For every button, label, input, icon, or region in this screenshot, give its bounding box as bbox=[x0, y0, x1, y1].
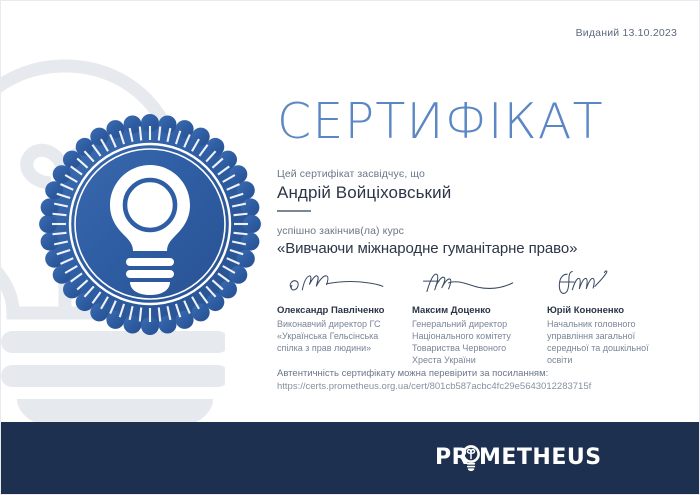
signatory-name: Максим Доценко bbox=[412, 305, 537, 317]
svg-text:METHEUS: METHEUS bbox=[479, 445, 602, 470]
signature-mark-icon bbox=[277, 269, 397, 295]
issue-date: Виданий 13.10.2023 bbox=[576, 27, 677, 39]
signatory-role: Генеральний директор Національного коміт… bbox=[412, 319, 537, 367]
seal-badge-icon bbox=[39, 113, 261, 335]
verification-label: Автентичність сертифікату можна перевіри… bbox=[277, 368, 677, 379]
course-name: «Вивчаючи міжнародне гуманітарне право» bbox=[277, 240, 677, 257]
prometheus-wordmark-icon: PR METHEUS bbox=[435, 443, 613, 473]
certificate-main: СЕРТИФІКАТ Цей сертифікат засвідчує, що … bbox=[277, 97, 677, 257]
signatory-role: Виконавчий директор ГС «Українська Гельс… bbox=[277, 319, 402, 355]
prometheus-logo: PR METHEUS bbox=[435, 443, 613, 473]
course-label: успішно закінчив(ла) курс bbox=[277, 225, 677, 237]
signature-mark-icon bbox=[547, 269, 667, 295]
signature-block-3: Юрій Кононенко Начальник головного управ… bbox=[547, 269, 672, 366]
signature-mark-icon bbox=[412, 269, 532, 295]
certificate-page: Виданий 13.10.2023 СЕРТИФІКАТ Цей сертиф… bbox=[0, 0, 700, 495]
signatory-name: Юрій Кононенко bbox=[547, 305, 672, 317]
signature-row: Олександр Павліченко Виконавчий директор… bbox=[277, 269, 682, 366]
signatory-name: Олександр Павліченко bbox=[277, 305, 402, 317]
recipient-name: Андрій Войціховський bbox=[277, 183, 677, 203]
signatory-role: Начальник головного управління загальної… bbox=[547, 319, 672, 367]
verification-url[interactable]: https://certs.prometheus.org.ua/cert/801… bbox=[277, 381, 677, 392]
signature-block-1: Олександр Павліченко Виконавчий директор… bbox=[277, 269, 402, 366]
page-title: СЕРТИФІКАТ bbox=[277, 97, 677, 146]
divider-recipient bbox=[277, 210, 311, 212]
recipient-label: Цей сертифікат засвідчує, що bbox=[277, 168, 677, 180]
signature-block-2: Максим Доценко Генеральний директор Наці… bbox=[412, 269, 537, 366]
verification-block: Автентичність сертифікату можна перевіри… bbox=[277, 368, 677, 392]
footer-bar: PR METHEUS bbox=[1, 422, 699, 494]
